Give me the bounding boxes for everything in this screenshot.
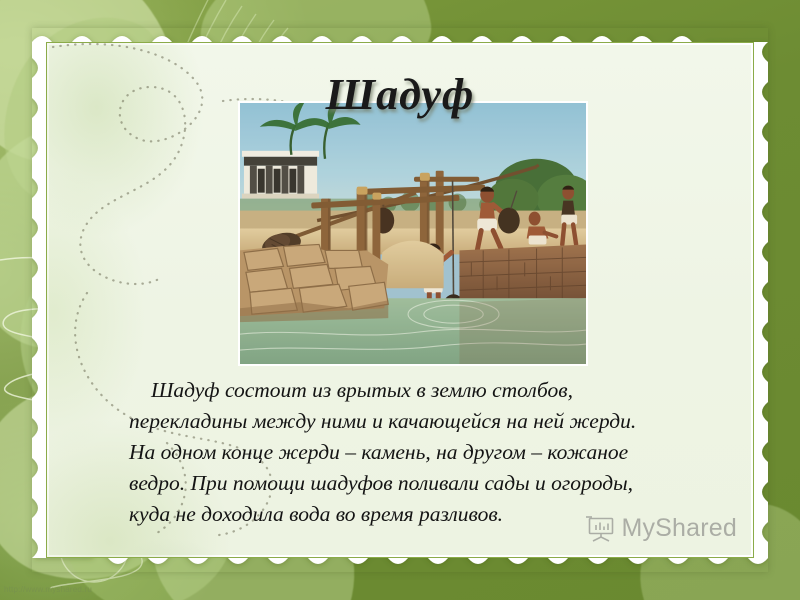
shaduf-illustration: [240, 103, 586, 364]
footer-url: http://www.myshared.ru: [4, 585, 92, 594]
body-text-line: ведро. При помощи шадуфов поливали сады …: [129, 468, 714, 499]
presentation-chart-icon: [586, 515, 616, 543]
body-text-line: перекладины между ними и качающейся на н…: [129, 406, 714, 437]
body-text-line: Шадуф состоит из врытых в землю столбов,: [129, 375, 714, 406]
slide-content-panel: Шадуф: [46, 42, 754, 558]
illustration-frame: [238, 101, 588, 366]
body-text-line: На одном конце жерди – камень, на другом…: [129, 437, 714, 468]
watermark-label: MyShared: [621, 514, 737, 543]
body-text: Шадуф состоит из врытых в землю столбов,…: [129, 375, 714, 530]
page-title: Шадуф: [47, 69, 753, 120]
slide-root: Шадуф: [0, 0, 800, 600]
myshared-watermark: MyShared: [586, 514, 737, 543]
